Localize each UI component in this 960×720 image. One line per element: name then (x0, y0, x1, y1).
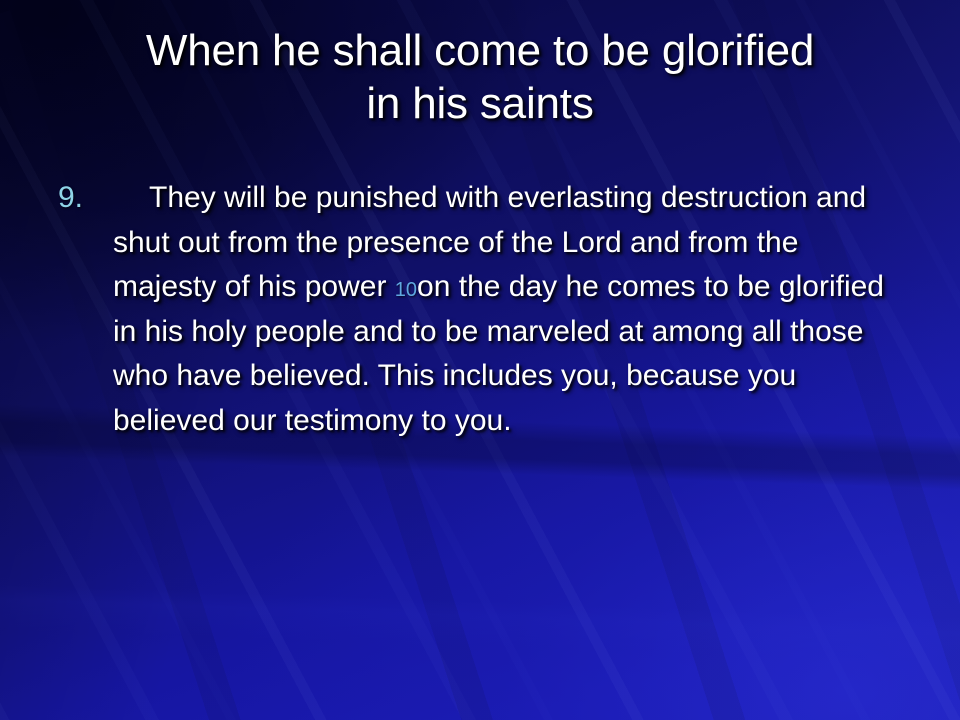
slide-content: When he shall come to be glorified in hi… (0, 0, 960, 720)
list-item: 9. They will be punished with everlastin… (52, 176, 892, 443)
list-item-text: They will be punished with everlasting d… (113, 176, 892, 443)
verse-number-marker: 10 (395, 279, 417, 301)
presentation-slide: When he shall come to be glorified in hi… (0, 0, 960, 720)
slide-body: 9. They will be punished with everlastin… (52, 176, 892, 443)
list-item-number: 9. (58, 176, 83, 221)
slide-title: When he shall come to be glorified in hi… (40, 24, 920, 130)
